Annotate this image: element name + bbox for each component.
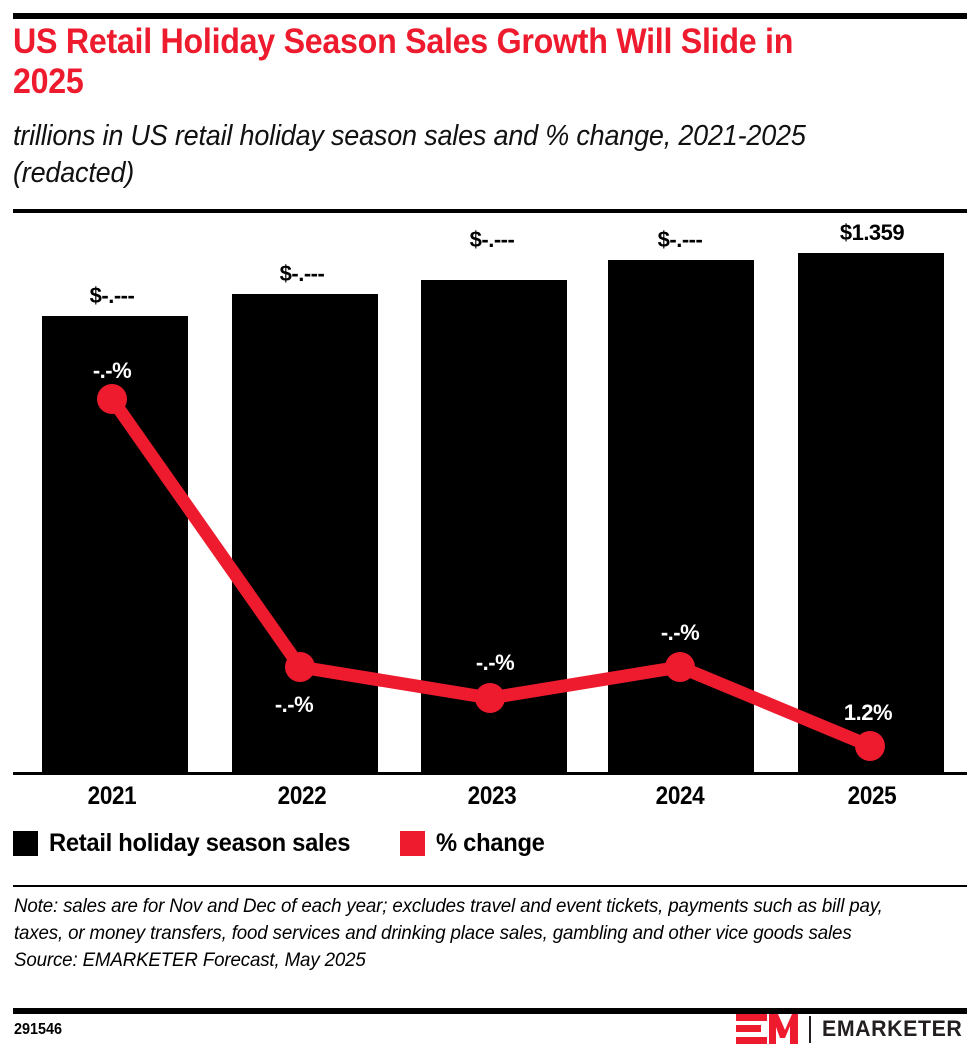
note-text: Note: sales are for Nov and Dec of each …	[14, 893, 928, 947]
legend-swatch-sales	[13, 831, 38, 856]
chart-id: 291546	[14, 1021, 62, 1039]
note-rule	[13, 885, 967, 887]
bar-value-label-2021: $-.---	[22, 283, 202, 309]
pct-change-label-2023: -.-%	[405, 650, 585, 676]
x-axis-label-2021: 2021	[49, 782, 175, 811]
pct-change-label-2025: 1.2%	[778, 700, 958, 726]
data-point-2021	[97, 384, 127, 414]
x-axis-label-2025: 2025	[809, 782, 935, 811]
page-title: US Retail Holiday Season Sales Growth Wi…	[13, 22, 869, 102]
x-axis-label-2022: 2022	[239, 782, 365, 811]
source-text: Source: EMARKETER Forecast, May 2025	[14, 947, 928, 974]
bar-2025	[798, 253, 944, 772]
pct-change-line	[112, 399, 870, 746]
chart-page: US Retail Holiday Season Sales Growth Wi…	[0, 0, 980, 1056]
x-axis-label-2023: 2023	[429, 782, 555, 811]
x-axis-label-2024: 2024	[617, 782, 743, 811]
top-rule	[13, 13, 967, 19]
pct-change-label-2022: -.-%	[204, 692, 384, 718]
data-point-2025	[855, 731, 885, 761]
subtitle-rule	[13, 209, 967, 213]
logo-divider	[809, 1016, 811, 1043]
legend-item-pct-change[interactable]: % change	[400, 829, 550, 858]
page-subtitle: trillions in US retail holiday season sa…	[13, 118, 878, 192]
data-point-2024	[665, 652, 695, 682]
bar-value-label-2023: $-.---	[402, 227, 582, 253]
legend-swatch-pct-change	[400, 831, 425, 856]
bar-2024	[608, 260, 754, 772]
brand-wordmark: EMARKETER	[822, 1016, 962, 1042]
legend-label-pct-change: % change	[436, 829, 545, 858]
chart-notes: Note: sales are for Nov and Dec of each …	[14, 893, 928, 974]
bar-value-label-2022: $-.---	[212, 261, 392, 287]
x-axis-line	[13, 772, 967, 775]
em-monogram-icon	[736, 1014, 798, 1044]
bar-2022	[232, 294, 378, 772]
legend-item-sales[interactable]: Retail holiday season sales	[13, 829, 366, 858]
data-point-2022	[285, 652, 315, 682]
pct-change-label-2024: -.-%	[590, 620, 770, 646]
pct-change-label-2021: -.-%	[22, 358, 202, 384]
bar-2023	[421, 280, 567, 772]
data-point-2023	[475, 683, 505, 713]
bar-2021	[42, 316, 188, 772]
legend-label-sales: Retail holiday season sales	[49, 829, 350, 858]
bar-value-label-2024: $-.---	[590, 227, 770, 253]
emarketer-logo: EMARKETER	[736, 1014, 967, 1044]
bar-value-label-2025: $1.359	[782, 220, 962, 246]
chart-legend: Retail holiday season sales% change	[13, 829, 550, 858]
